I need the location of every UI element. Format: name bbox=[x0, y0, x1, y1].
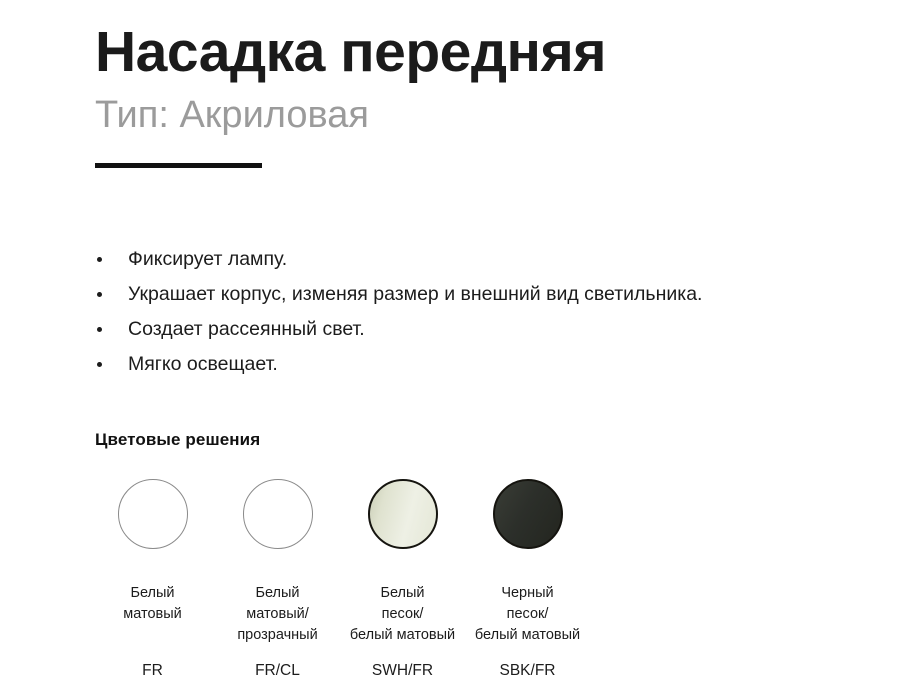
color-label-cell: Белый матовый bbox=[90, 566, 215, 625]
color-code: FR bbox=[90, 662, 215, 680]
list-item: Фиксирует лампу. bbox=[95, 250, 855, 270]
bullet-dot-icon bbox=[97, 362, 102, 367]
list-item: Создает рассеянный свет. bbox=[95, 320, 855, 340]
color-label-line: прозрачный bbox=[215, 625, 340, 646]
color-code: SWH/FR bbox=[340, 662, 465, 680]
color-swatch-label: Белый песок/ белый матовый bbox=[340, 583, 465, 646]
color-label-line: матовый bbox=[90, 604, 215, 625]
color-swatch-item[interactable] bbox=[215, 478, 340, 550]
swatch-circle-wrap bbox=[118, 478, 188, 550]
bullet-dot-icon bbox=[97, 292, 102, 297]
color-label-cell: Белый песок/ белый матовый bbox=[340, 566, 465, 646]
color-label-line: Белый bbox=[215, 583, 340, 604]
color-label-line: Белый bbox=[340, 583, 465, 604]
header-divider bbox=[95, 163, 262, 168]
swatch-circle-wrap bbox=[368, 478, 438, 550]
list-item: Мягко освещает. bbox=[95, 355, 855, 375]
product-spec-page: Насадка передняя Тип: Акриловая Фиксируе… bbox=[0, 0, 900, 700]
color-swatch-item[interactable] bbox=[465, 478, 590, 550]
color-swatch-circle[interactable] bbox=[243, 479, 313, 549]
color-label-line: матовый/ bbox=[215, 604, 340, 625]
swatch-circle-wrap bbox=[243, 478, 313, 550]
feature-text: Фиксирует лампу. bbox=[128, 248, 287, 270]
swatch-circle-wrap bbox=[493, 478, 563, 550]
page-title: Насадка передняя bbox=[95, 22, 855, 84]
bullet-dot-icon bbox=[97, 257, 102, 262]
color-swatch-label: Черный песок/ белый матовый bbox=[465, 583, 590, 646]
color-swatch-item[interactable] bbox=[90, 478, 215, 550]
color-label-line: песок/ bbox=[465, 604, 590, 625]
color-swatch-circle[interactable] bbox=[493, 479, 563, 549]
page-header: Насадка передняя Тип: Акриловая bbox=[95, 22, 855, 168]
color-swatch-row bbox=[90, 478, 880, 550]
color-label-cell: Черный песок/ белый матовый bbox=[465, 566, 590, 646]
color-label-line: белый матовый bbox=[465, 625, 590, 646]
color-code: FR/CL bbox=[215, 662, 340, 680]
color-label-line: Черный bbox=[465, 583, 590, 604]
feature-text: Мягко освещает. bbox=[128, 353, 278, 375]
color-code: SBK/FR bbox=[465, 662, 590, 680]
color-label-line: песок/ bbox=[340, 604, 465, 625]
feature-text: Создает рассеянный свет. bbox=[128, 318, 365, 340]
color-label-line: Белый bbox=[90, 583, 215, 604]
list-item: Украшает корпус, изменяя размер и внешни… bbox=[95, 285, 855, 305]
color-swatch-label: Белый матовый bbox=[90, 583, 215, 625]
color-swatch-label: Белый матовый/ прозрачный bbox=[215, 583, 340, 646]
color-code-row: FR FR/CL SWH/FR SBK/FR bbox=[90, 662, 880, 680]
color-swatch-circle[interactable] bbox=[118, 479, 188, 549]
color-options-heading: Цветовые решения bbox=[95, 430, 880, 450]
color-label-cell: Белый матовый/ прозрачный bbox=[215, 566, 340, 646]
feature-list: Фиксирует лампу. Украшает корпус, изменя… bbox=[95, 250, 855, 390]
bullet-dot-icon bbox=[97, 327, 102, 332]
color-label-line: белый матовый bbox=[340, 625, 465, 646]
color-swatch-circle[interactable] bbox=[368, 479, 438, 549]
color-label-row: Белый матовый Белый матовый/ прозрачный … bbox=[90, 566, 880, 646]
color-options-section: Цветовые решения bbox=[90, 430, 880, 680]
feature-text: Украшает корпус, изменяя размер и внешни… bbox=[128, 283, 702, 305]
color-swatch-item[interactable] bbox=[340, 478, 465, 550]
page-subtitle: Тип: Акриловая bbox=[95, 95, 855, 137]
